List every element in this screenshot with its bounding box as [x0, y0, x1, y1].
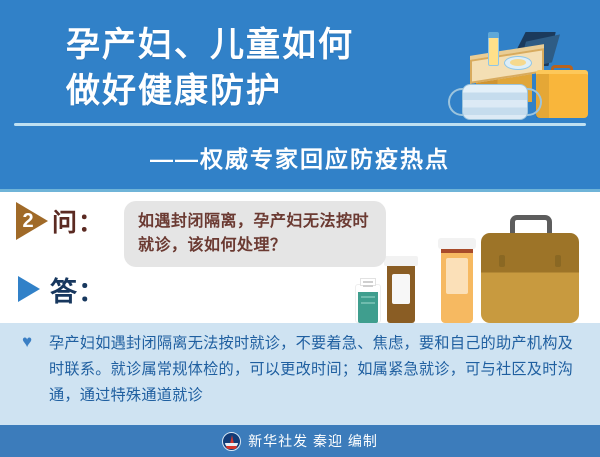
poster-root: 孕产妇、儿童如何 做好健康防护 ——权威专家回应防疫热点 [0, 0, 600, 457]
footer-credit: 新华社发 秦迎 编制 [248, 431, 378, 451]
jar-marking-2-icon [363, 285, 373, 287]
header-subtitle: ——权威专家回应防疫热点 [0, 140, 600, 174]
qa-illustration [355, 192, 600, 323]
briefcase-icon [481, 233, 579, 323]
jar-marking-4-icon [361, 302, 375, 304]
question-label: 问： [52, 203, 104, 239]
jar-marking-1-icon [363, 281, 373, 283]
qa-header-section: 2 问： 如遇封闭隔离，孕产妇无法按时就诊，该如何处理？ 答： [0, 192, 600, 323]
vaccine-vial-cap-icon [488, 32, 499, 38]
answer-text: 孕产妇如遇封闭隔离无法按时就诊，不要着急、焦虑，要和自己的助产机构及时联系。就诊… [49, 331, 573, 409]
header-banner: 孕产妇、儿童如何 做好健康防护 ——权威专家回应防疫热点 [0, 0, 600, 192]
answer-label: 答： [50, 270, 106, 309]
petri-dish-contents-icon [510, 59, 526, 66]
answer-panel: ♥ 孕产妇如遇封闭隔离无法按时就诊，不要着急、焦虑，要和自己的助产机构及时联系。… [0, 323, 600, 425]
surgical-mask-icon [462, 84, 528, 120]
brown-pill-bottle-label-icon [392, 274, 410, 304]
briefcase-latch-left-icon [499, 255, 505, 267]
question-text: 如遇封闭隔离，孕产妇无法按时就诊，该如何处理？ [138, 210, 374, 258]
header-illustration [452, 22, 594, 124]
title-line-1: 孕产妇、儿童如何 [66, 22, 446, 68]
footer-bar: 新华社发 秦迎 编制 [0, 425, 600, 457]
orange-pill-bottle-cap-icon [438, 238, 476, 249]
briefcase-handle-icon [510, 215, 552, 235]
question-bubble: 如遇封闭隔离，孕产妇无法按时就诊，该如何处理？ [124, 201, 386, 267]
jar-marking-3-icon [361, 296, 375, 298]
logo-wave-accent-shape [226, 446, 237, 449]
answer-triangle-icon [18, 276, 40, 302]
xinhua-logo-icon [222, 432, 241, 451]
title-line-2: 做好健康防护 [66, 68, 446, 114]
question-number: 2 [18, 207, 38, 235]
heart-icon: ♥ [22, 334, 38, 350]
page-title: 孕产妇、儿童如何 做好健康防护 [66, 22, 446, 114]
vaccine-vial-icon [488, 36, 499, 66]
brown-pill-bottle-cap-icon [384, 256, 418, 266]
orange-pill-bottle-label-icon [446, 258, 468, 294]
orange-pill-bottle-band-icon [441, 249, 473, 253]
briefcase-latch-right-icon [555, 255, 561, 267]
